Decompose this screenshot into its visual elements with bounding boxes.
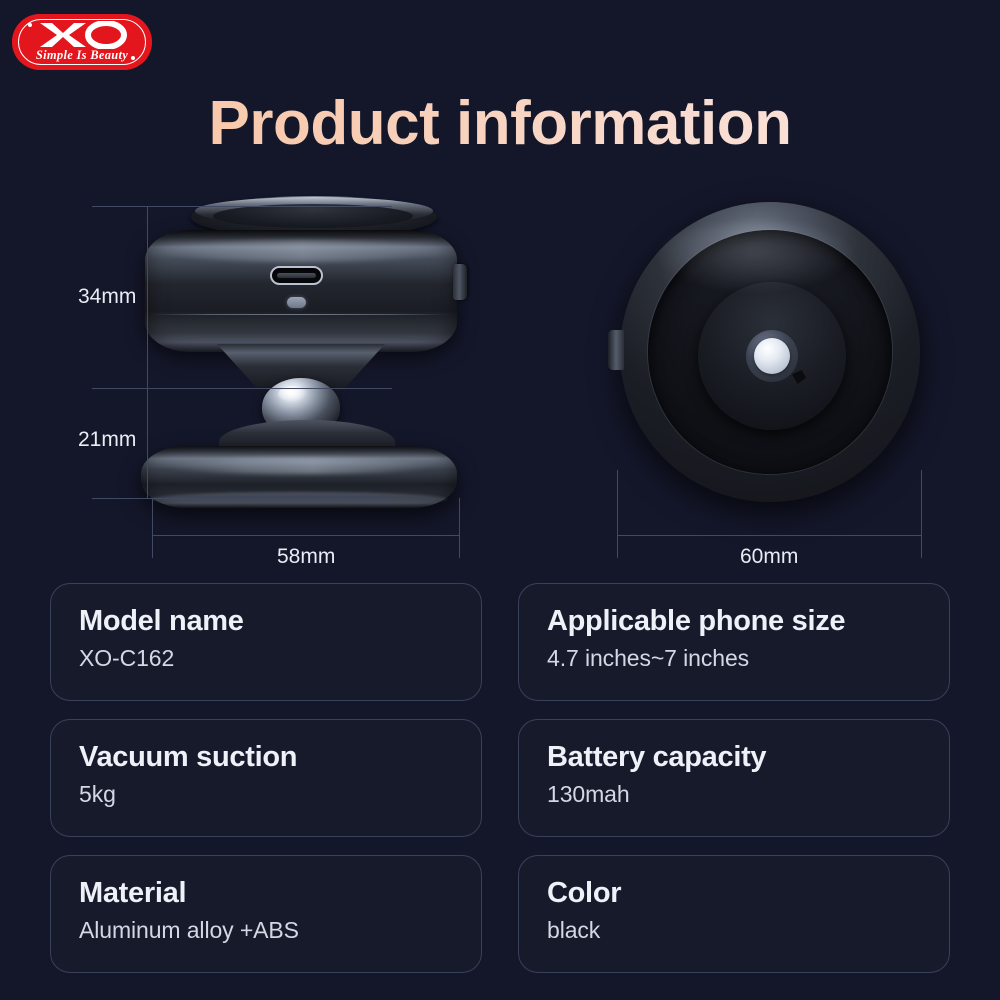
led-indicator-icon <box>287 297 306 308</box>
usb-c-port-tongue <box>277 273 316 278</box>
spec-value: 130mah <box>547 781 921 808</box>
dim-label-21mm: 21mm <box>78 428 136 452</box>
center-dome-button <box>754 338 790 374</box>
dim-line-left-top <box>92 206 392 207</box>
side-release-button-top-view <box>608 330 624 370</box>
dim-line-left-middle <box>92 388 392 389</box>
side-release-button <box>453 264 467 300</box>
dim-line-left-vert <box>147 206 148 498</box>
spec-title: Material <box>79 878 453 908</box>
dim-label-60mm: 60mm <box>740 545 798 569</box>
body-highlight <box>159 240 445 262</box>
body-seam-line <box>151 314 451 315</box>
dim-line-right-width-rule <box>617 535 921 536</box>
dim-line-left-width-end <box>459 498 460 558</box>
logo-xo-wordmark <box>12 21 152 49</box>
spec-card-grid: Model name XO-C162 Applicable phone size… <box>50 583 950 973</box>
spec-value: XO-C162 <box>79 645 453 672</box>
spec-title: Color <box>547 878 921 908</box>
spec-value: black <box>547 917 921 944</box>
spec-title: Model name <box>79 606 453 636</box>
spec-card-vacuum-suction: Vacuum suction 5kg <box>50 719 482 837</box>
brand-logo: Simple Is Beauty <box>12 14 152 70</box>
spec-title: Battery capacity <box>547 742 921 772</box>
dim-line-left-width-rule <box>152 535 459 536</box>
xo-logo-icon <box>36 21 128 49</box>
top-plate-inner <box>213 204 413 228</box>
spec-title: Applicable phone size <box>547 606 921 636</box>
page-title: Product information <box>0 88 1000 159</box>
spec-card-applicable-phone-size: Applicable phone size 4.7 inches~7 inche… <box>518 583 950 701</box>
spec-value: 5kg <box>79 781 453 808</box>
top-gloss-highlight <box>654 222 854 292</box>
base-bottom-lip <box>151 492 447 506</box>
dim-line-right-width-end <box>921 470 922 558</box>
spec-value: 4.7 inches~7 inches <box>547 645 921 672</box>
spec-card-material: Material Aluminum alloy +ABS <box>50 855 482 973</box>
dim-line-right-width-start <box>617 470 618 558</box>
dim-line-left-width-start <box>152 498 153 558</box>
spec-value: Aluminum alloy +ABS <box>79 917 453 944</box>
base-highlight <box>161 458 437 474</box>
spec-title: Vacuum suction <box>79 742 453 772</box>
product-image-side-view <box>135 196 495 506</box>
dim-line-left-bottom <box>92 498 392 499</box>
dim-label-58mm: 58mm <box>277 545 335 569</box>
spec-card-model-name: Model name XO-C162 <box>50 583 482 701</box>
dim-label-34mm: 34mm <box>78 285 136 309</box>
logo-tagline: Simple Is Beauty <box>12 48 152 63</box>
spec-card-color: Color black <box>518 855 950 973</box>
product-image-top-view <box>620 202 920 502</box>
spec-card-battery-capacity: Battery capacity 130mah <box>518 719 950 837</box>
